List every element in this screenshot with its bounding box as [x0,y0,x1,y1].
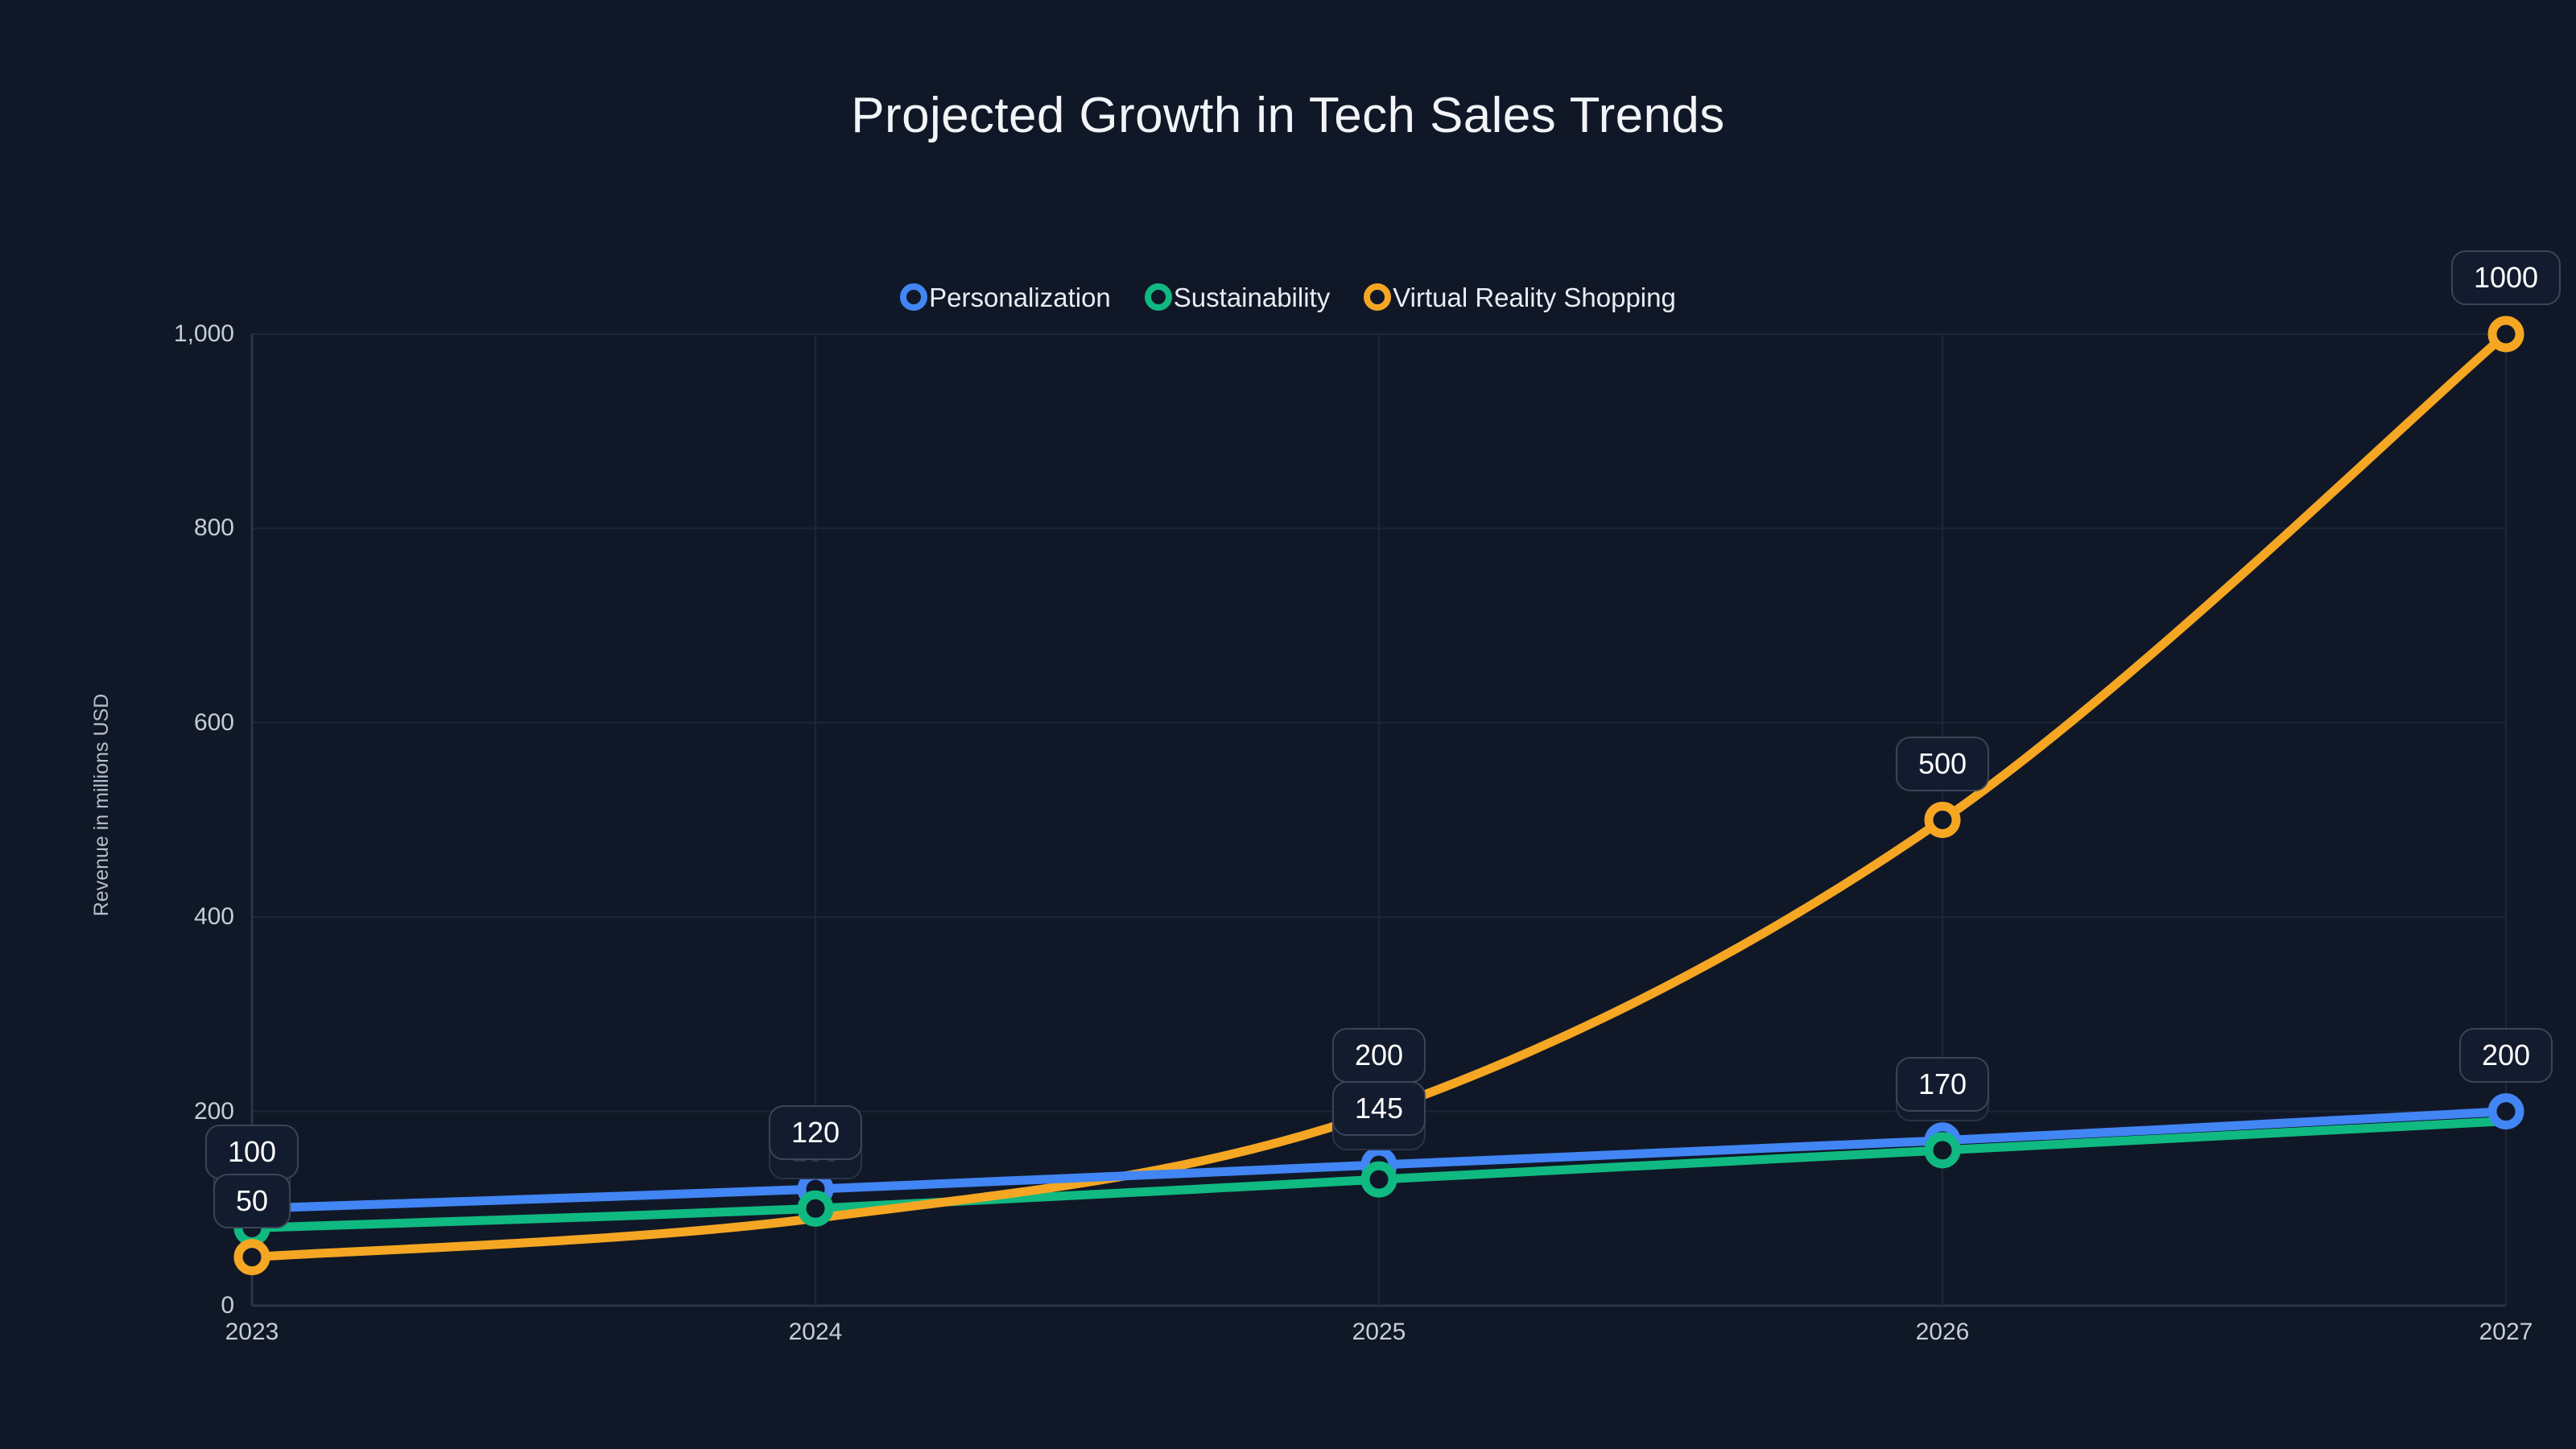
y-tick-label: 0 [0,1292,234,1319]
data-label-tooltip: 170 [1896,1057,1989,1112]
data-point-marker[interactable] [2492,320,2520,348]
x-tick-label: 2027 [2479,1319,2533,1346]
chart-canvas [0,0,2576,1449]
data-label-tooltip: 145 [1332,1081,1426,1136]
x-tick-label: 2025 [1352,1319,1406,1346]
data-point-marker[interactable] [1929,807,1956,834]
y-tick-label: 1,000 [0,320,234,348]
data-label-tooltip: 120 [769,1105,862,1160]
y-tick-label: 400 [0,903,234,931]
y-tick-label: 800 [0,514,234,542]
data-label-tooltip: 200 [2459,1028,2553,1083]
data-label-tooltip: 500 [1896,737,1989,791]
chart-plot-area: 02004006008001,0002023202420252026202710… [0,0,2576,1449]
data-point-marker[interactable] [2492,1098,2520,1125]
data-point-marker[interactable] [1365,1166,1393,1193]
y-tick-label: 200 [0,1098,234,1125]
chart-page: Projected Growth in Tech Sales Trends Pe… [0,0,2576,1449]
data-label-tooltip: 1000 [2451,250,2561,305]
data-label-tooltip: 200 [1332,1028,1426,1083]
x-tick-label: 2023 [225,1319,279,1346]
x-tick-label: 2024 [789,1319,843,1346]
data-point-marker[interactable] [1929,1137,1956,1164]
x-tick-label: 2026 [1916,1319,1970,1346]
data-point-marker[interactable] [238,1244,266,1271]
y-tick-label: 600 [0,709,234,737]
data-label-tooltip: 100 [205,1125,299,1179]
data-point-marker[interactable] [802,1195,829,1222]
data-label-tooltip: 50 [213,1174,291,1228]
